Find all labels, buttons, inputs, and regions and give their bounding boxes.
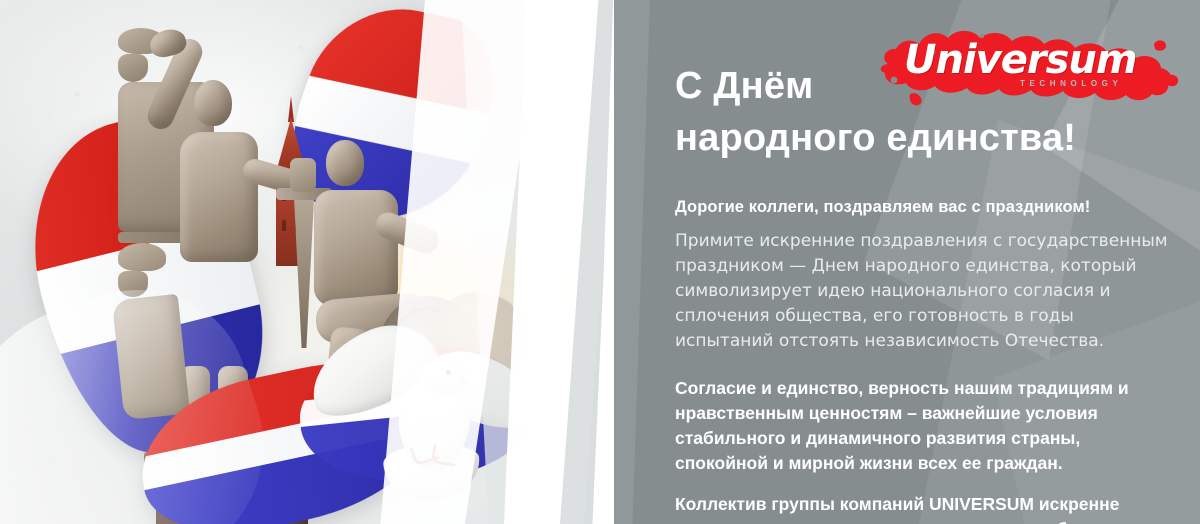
minin-head xyxy=(194,80,232,126)
pozharsky-head xyxy=(326,140,364,186)
minin-beard xyxy=(118,54,148,82)
sword-hilt xyxy=(290,158,316,192)
text-content: С Днём народного единства! Дорогие колле… xyxy=(675,0,1175,524)
title-line-1: С Днём xyxy=(675,65,813,107)
greeting-body: Примите искренние поздравления с государ… xyxy=(675,218,1175,354)
title-line-2: народного единства! xyxy=(675,112,1175,164)
pozharsky-torso xyxy=(314,190,398,306)
collage-image: ГРАЖДАНИ Б xyxy=(0,0,640,524)
text-panel: Universum TECHNOLOGY С Днём народного ед… xyxy=(614,0,1200,524)
panel-facet xyxy=(614,0,650,524)
greeting-banner: ГРАЖДАНИ Б xyxy=(0,0,1200,524)
greeting-closing: Коллектив группы компаний UNIVERSUM искр… xyxy=(675,476,1175,524)
greeting-lead: Дорогие коллеги, поздравляем вас с празд… xyxy=(675,164,1175,218)
minin-torso xyxy=(180,132,258,262)
greeting-values: Согласие и единство, верность нашим трад… xyxy=(675,354,1175,476)
pozharsky-hair xyxy=(118,243,166,271)
page-title: С Днём народного единства! xyxy=(675,0,1175,164)
